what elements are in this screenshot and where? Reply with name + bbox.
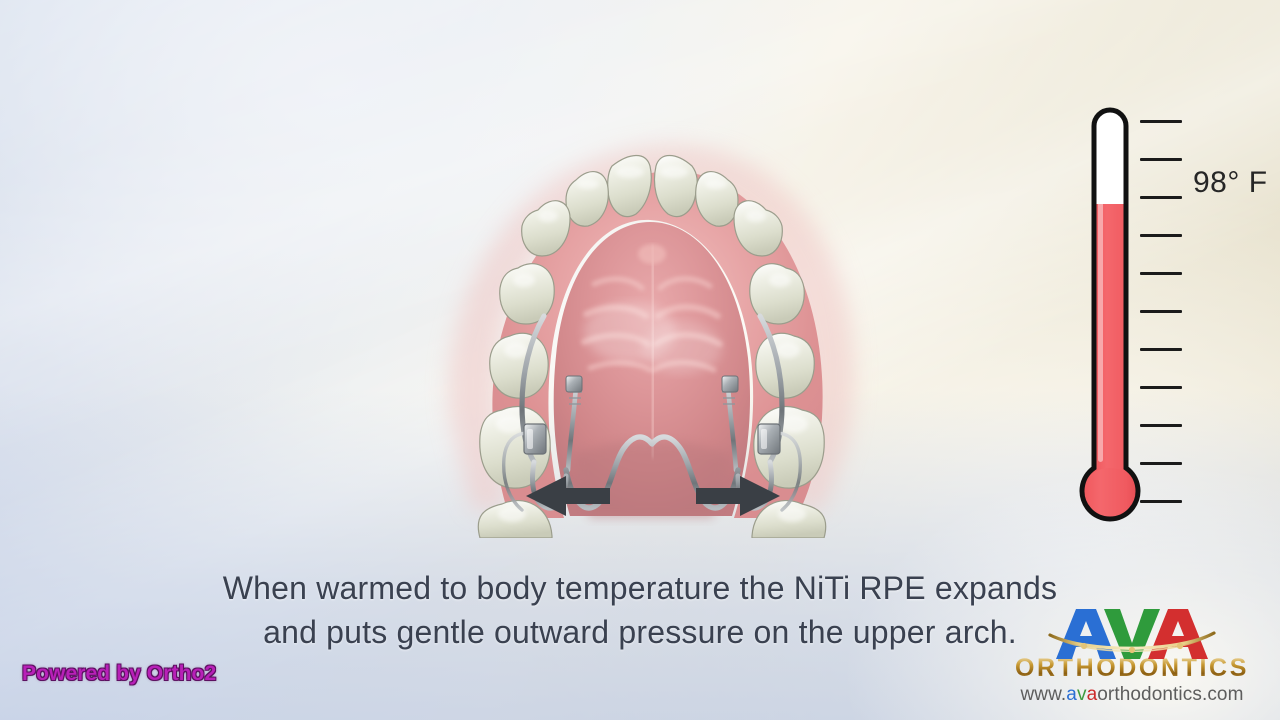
thermometer-tick-10: [1140, 500, 1182, 503]
thermometer-tick-4: [1140, 272, 1182, 275]
thermometer-tick-3: [1140, 234, 1182, 237]
thermometer-temperature-label: 98° F: [1193, 166, 1268, 200]
caption-line-1: When warmed to body temperature the NiTi…: [0, 566, 1280, 610]
thermometer-scale: [1140, 96, 1196, 548]
thermometer-tick-0: [1140, 120, 1182, 123]
ava-logo-mark: [998, 605, 1266, 667]
thermometer-tick-8: [1140, 424, 1182, 427]
thermometer-graphic: [1078, 96, 1148, 548]
ava-orthodontics-logo[interactable]: ORTHODONTICS www.avaorthodontics.com: [998, 605, 1266, 706]
dental-arch-illustration: [398, 118, 898, 538]
palate-surface: [554, 222, 750, 518]
thermometer-tube: [1078, 110, 1142, 548]
left-attachment-block: [566, 376, 582, 392]
thermometer-tick-1: [1140, 158, 1182, 161]
incisive-papilla: [638, 244, 666, 264]
ava-letters-icon: [1046, 605, 1218, 667]
url-letter-a-blue: a: [1066, 684, 1077, 705]
ava-bracket-dot-left: [1081, 643, 1087, 649]
powered-by-ortho2-badge: Powered by Ortho2: [22, 662, 216, 686]
url-letter-a-red: a: [1087, 684, 1098, 705]
url-letter-v-green: v: [1077, 684, 1087, 705]
thermometer-tick-6: [1140, 348, 1182, 351]
thermometer: [1078, 96, 1148, 548]
right-attachment-block: [722, 376, 738, 392]
thermometer-tick-2: [1140, 196, 1182, 199]
thermometer-tick-5: [1140, 310, 1182, 313]
arch-graphic: [398, 118, 898, 538]
url-prefix: www.: [1020, 684, 1066, 705]
thermometer-tick-9: [1140, 462, 1182, 465]
thermometer-mercury: [1078, 204, 1142, 548]
brand-website-url[interactable]: www.avaorthodontics.com: [998, 684, 1266, 706]
ava-bracket-dot-center: [1129, 647, 1135, 653]
thermometer-tick-7: [1140, 386, 1182, 389]
ava-bracket-dot-right: [1177, 643, 1183, 649]
video-frame: 98° F When warmed to body temperature th…: [0, 0, 1280, 720]
url-suffix: orthodontics.com: [1097, 684, 1243, 705]
